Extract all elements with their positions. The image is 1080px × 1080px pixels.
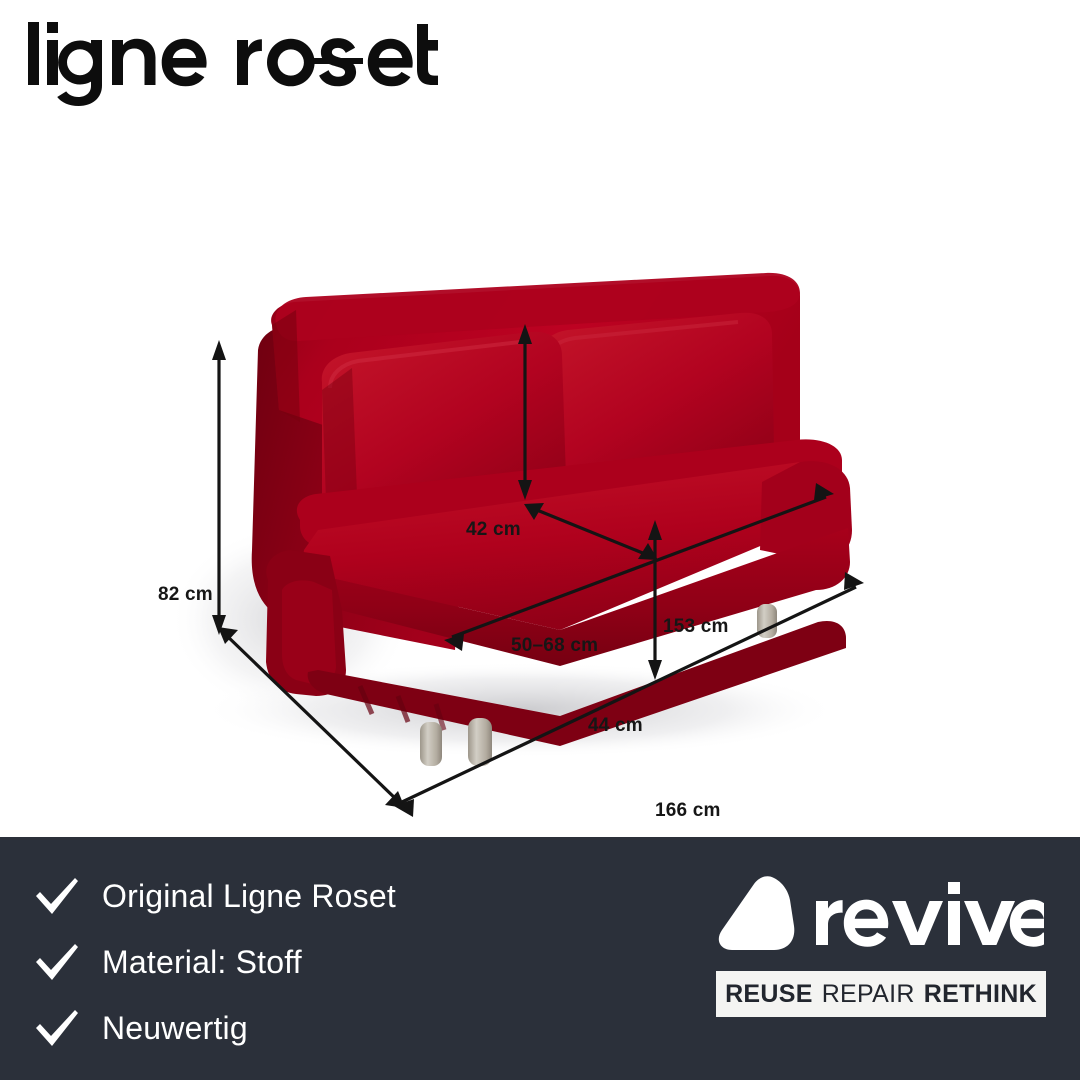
feature-item-material: Material: Stoff (34, 934, 396, 990)
dimension-label-back-height: 42 cm (466, 519, 521, 541)
feature-item-condition: Neuwertig (34, 1000, 396, 1056)
revive-wordmark-icon (814, 879, 1044, 949)
footer-bar: Original Ligne Roset Material: Stoff Neu… (0, 835, 1080, 1080)
sofa-illustration (0, 110, 1080, 835)
dimension-label-depth-full: 166 cm (655, 800, 721, 822)
product-photo: 82 cm 42 cm 50–68 cm 153 cm 44 cm 166 cm… (0, 110, 1080, 835)
tagline-word-rethink: RETHINK (924, 980, 1037, 1009)
dimension-label-width: 153 cm (663, 616, 729, 638)
tagline-word-reuse: REUSE (725, 980, 813, 1009)
revive-logo (716, 871, 1046, 957)
feature-label: Original Ligne Roset (102, 878, 396, 915)
product-info-card: 82 cm 42 cm 50–68 cm 153 cm 44 cm 166 cm… (0, 0, 1080, 1080)
check-icon (34, 1008, 80, 1048)
revive-tagline: REUSE REPAIR RETHINK (716, 971, 1046, 1017)
feature-item-original: Original Ligne Roset (34, 868, 396, 924)
dimension-label-height: 82 cm (158, 584, 213, 606)
tagline-word-repair: REPAIR (822, 980, 915, 1009)
footer-top-divider (0, 835, 1080, 837)
dimension-label-seat-height: 44 cm (588, 715, 643, 737)
ligne-roset-wordmark-icon (18, 14, 438, 106)
ligne-roset-logo (18, 14, 438, 106)
dimension-label-seat-depth: 50–68 cm (511, 635, 598, 657)
feature-label: Neuwertig (102, 1010, 248, 1047)
check-icon (34, 876, 80, 916)
check-icon (34, 942, 80, 982)
front-apron-fold (282, 580, 336, 684)
revive-branding: REUSE REPAIR RETHINK (716, 871, 1046, 1017)
feature-checklist: Original Ligne Roset Material: Stoff Neu… (34, 868, 396, 1056)
leg-front-left (420, 722, 442, 766)
leg-front-right (468, 718, 492, 766)
revive-leaf-mark-icon (716, 872, 800, 956)
feature-label: Material: Stoff (102, 944, 302, 981)
